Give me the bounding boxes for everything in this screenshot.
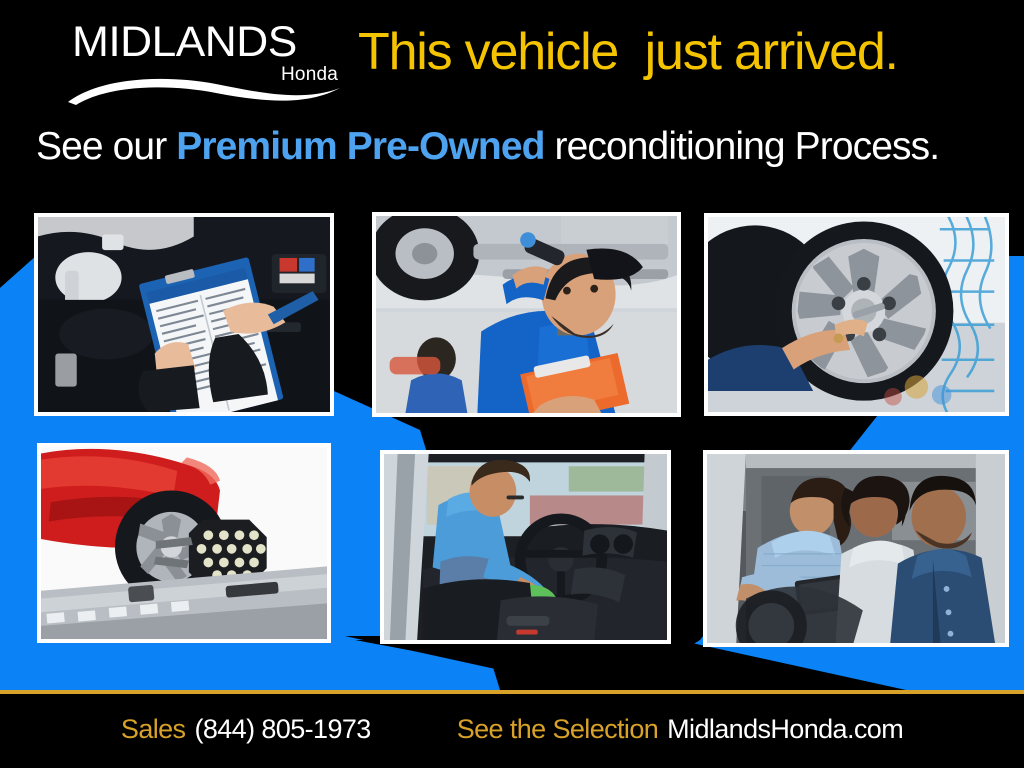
photo-interior-detailing (380, 450, 671, 644)
photo-wheel-alignment-image (41, 447, 327, 639)
photo-customer-delivery-image (707, 454, 1005, 643)
see-the-selection-label: See the Selection (457, 714, 658, 745)
photo-interior-detailing-image (384, 454, 667, 640)
photo-undercarriage-inspection-image (376, 216, 677, 413)
header: MIDLANDS Honda This vehicle just arrived… (0, 0, 1024, 196)
website-link[interactable]: MidlandsHonda.com (667, 714, 903, 745)
subheadline-suffix: reconditioning Process. (545, 125, 940, 168)
blue-wedge-right (1010, 236, 1024, 690)
photo-undercarriage-inspection (372, 212, 681, 417)
footer-divider (0, 690, 1024, 694)
blue-wedge-left (0, 256, 36, 690)
subheadline-prefix: See our (36, 125, 176, 168)
dealership-logo: MIDLANDS Honda (72, 22, 342, 96)
headline: This vehicle just arrived. (358, 26, 898, 78)
logo-swoosh-icon (66, 72, 342, 106)
photo-wheel-tire-service-image (708, 217, 1005, 412)
black-notch (355, 640, 905, 690)
footer: Sales(844) 805-1973See the SelectionMidl… (0, 690, 1024, 768)
photo-wheel-alignment (37, 443, 331, 643)
subheadline-highlight: Premium Pre-Owned (176, 125, 544, 168)
photo-maintenance-checklist (34, 213, 334, 416)
promotional-banner: MIDLANDS Honda This vehicle just arrived… (0, 0, 1024, 768)
sales-label: Sales (121, 714, 186, 745)
photo-maintenance-checklist-image (38, 217, 330, 412)
logo-wordmark: MIDLANDS (72, 18, 297, 67)
subheadline: See our Premium Pre-Owned reconditioning… (36, 126, 939, 169)
sales-phone[interactable]: (844) 805-1973 (194, 714, 370, 745)
footer-contact-row: Sales(844) 805-1973See the SelectionMidl… (0, 714, 1024, 745)
photo-wheel-tire-service (704, 213, 1009, 416)
photo-customer-delivery (703, 450, 1009, 647)
